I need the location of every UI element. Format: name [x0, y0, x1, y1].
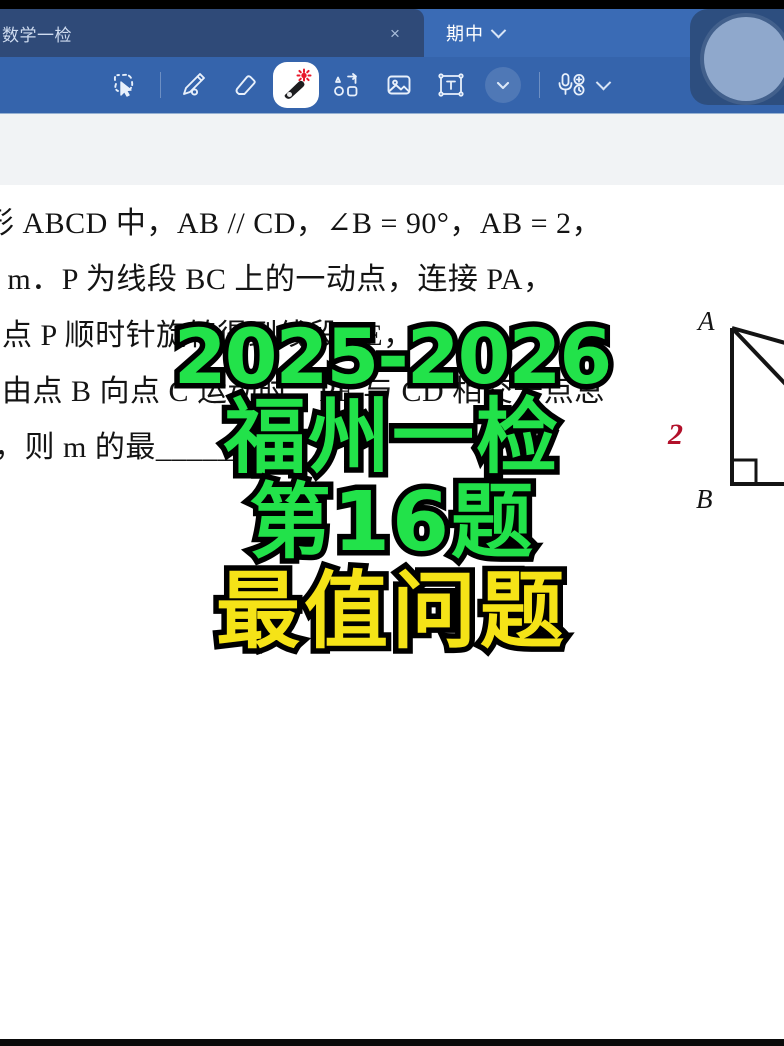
top-letterbox [0, 0, 784, 9]
drawing-toolbar [0, 57, 784, 113]
chevron-down-icon[interactable] [596, 74, 612, 90]
close-icon[interactable]: × [384, 22, 406, 44]
microphone-user-icon[interactable] [548, 63, 596, 107]
problem-text: 形 ABCD 中，AB // CD，∠B = 90°，AB = 2， = m．P… [0, 196, 700, 476]
avatar [704, 17, 784, 101]
laser-pointer-icon[interactable] [273, 62, 319, 108]
tab-math-exam[interactable]: 数学一检 × [0, 9, 424, 57]
app-window-chrome: 数学一检 × 期中 [0, 9, 784, 113]
pen-icon[interactable] [169, 63, 217, 107]
microphone-user-group[interactable] [548, 63, 609, 107]
lasso-select-icon[interactable] [100, 63, 148, 107]
tab-label: 数学一检 [0, 21, 72, 46]
problem-line: 点 P 顺时针旋转得到线段 PE， [2, 308, 700, 364]
toolbar-divider [160, 72, 161, 98]
chevron-down-icon[interactable] [491, 22, 507, 38]
more-tools-icon[interactable] [485, 67, 521, 103]
problem-line: 形 ABCD 中，AB // CD，∠B = 90°，AB = 2， [0, 196, 700, 252]
tab-label: 期中 [446, 20, 484, 46]
screen: 形 ABCD 中，AB // CD，∠B = 90°，AB = 2， = m．P… [0, 0, 784, 1046]
tab-midterm[interactable]: 期中 [424, 9, 504, 57]
eraser-icon[interactable] [221, 63, 269, 107]
figure-vertex-a-label: A [698, 306, 715, 337]
presenter-camera-bubble[interactable] [690, 9, 784, 105]
shapes-icon[interactable] [323, 63, 371, 107]
problem-line: 由点 B 向点 C 运动时，PE 与 CD 相交于点总 [2, 364, 700, 420]
document-toolbar-strip [0, 113, 784, 185]
figure-side-length-label: 2 [668, 418, 683, 452]
tab-strip: 数学一检 × 期中 [0, 9, 784, 57]
geometry-figure: A B 2 [690, 288, 784, 518]
image-icon[interactable] [375, 63, 423, 107]
problem-line: = m．P 为线段 BC 上的一动点，连接 PA， [0, 252, 700, 308]
bottom-letterbox [0, 1039, 784, 1046]
text-box-icon[interactable] [427, 63, 475, 107]
figure-vertex-b-label: B [696, 484, 713, 515]
toolbar-divider [539, 72, 540, 98]
problem-line: ，则 m 的最______. [0, 420, 700, 476]
